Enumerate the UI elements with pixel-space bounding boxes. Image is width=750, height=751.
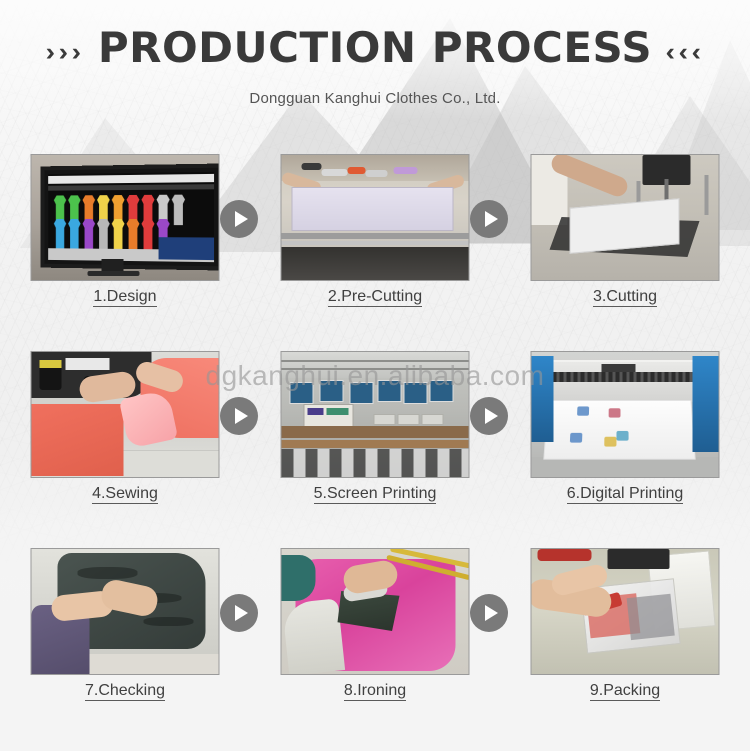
step-caption: 4.Sewing bbox=[0, 485, 250, 503]
process-step-8[interactable]: 8.Ironing bbox=[250, 534, 500, 731]
play-arrow-icon[interactable] bbox=[220, 594, 258, 632]
play-arrow-icon[interactable] bbox=[220, 397, 258, 435]
play-arrow-icon[interactable] bbox=[470, 594, 508, 632]
step-thumbnail-checking[interactable] bbox=[31, 548, 220, 675]
process-step-grid: 1.Design bbox=[0, 140, 750, 731]
process-step-5[interactable]: 5.Screen Printing bbox=[250, 337, 500, 534]
step-label: 5.Screen Printing bbox=[314, 485, 437, 504]
step-label: 6.Digital Printing bbox=[567, 485, 684, 504]
photo-ironing bbox=[282, 549, 469, 674]
banner-header: ››› PRODUCTION PROCESS ‹‹‹ Dongguan Kang… bbox=[0, 0, 750, 132]
step-label: 3.Cutting bbox=[593, 288, 657, 307]
process-step-7[interactable]: 7.Checking bbox=[0, 534, 250, 731]
step-thumbnail-ironing[interactable] bbox=[281, 548, 470, 675]
play-arrow-icon[interactable] bbox=[220, 200, 258, 238]
step-label: 2.Pre-Cutting bbox=[328, 288, 422, 307]
chevron-left-triple-icon: ‹‹‹ bbox=[666, 40, 705, 65]
step-caption: 3.Cutting bbox=[500, 288, 750, 306]
photo-cutting bbox=[532, 155, 719, 280]
step-thumbnail-pre-cutting[interactable] bbox=[281, 154, 470, 281]
process-step-6[interactable]: 6.Digital Printing bbox=[500, 337, 750, 534]
photo-pre-cutting bbox=[282, 155, 469, 280]
process-step-4[interactable]: 4.Sewing bbox=[0, 337, 250, 534]
process-step-2[interactable]: 2.Pre-Cutting bbox=[250, 140, 500, 337]
step-thumbnail-sewing[interactable] bbox=[31, 351, 220, 478]
step-caption: 8.Ironing bbox=[250, 682, 500, 700]
step-caption: 6.Digital Printing bbox=[500, 485, 750, 503]
production-process-banner: ››› PRODUCTION PROCESS ‹‹‹ Dongguan Kang… bbox=[0, 0, 750, 751]
process-step-3[interactable]: 3.Cutting bbox=[500, 140, 750, 337]
play-arrow-icon[interactable] bbox=[470, 397, 508, 435]
step-caption: 7.Checking bbox=[0, 682, 250, 700]
photo-sewing bbox=[32, 352, 219, 477]
step-thumbnail-cutting[interactable] bbox=[531, 154, 720, 281]
step-thumbnail-packing[interactable] bbox=[531, 548, 720, 675]
play-arrow-icon[interactable] bbox=[470, 200, 508, 238]
process-step-9[interactable]: 9.Packing bbox=[500, 534, 750, 731]
photo-digital-printing bbox=[532, 352, 719, 477]
step-thumbnail-design[interactable] bbox=[31, 154, 220, 281]
process-step-1[interactable]: 1.Design bbox=[0, 140, 250, 337]
step-caption: 9.Packing bbox=[500, 682, 750, 700]
step-label: 8.Ironing bbox=[344, 682, 406, 701]
step-thumbnail-digital-printing[interactable] bbox=[531, 351, 720, 478]
chevron-right-triple-icon: ››› bbox=[45, 40, 84, 65]
photo-screen-printing bbox=[282, 352, 469, 477]
step-label: 1.Design bbox=[93, 288, 156, 307]
step-caption: 5.Screen Printing bbox=[250, 485, 500, 503]
company-name: Dongguan Kanghui Clothes Co., Ltd. bbox=[0, 90, 750, 107]
photo-checking bbox=[32, 549, 219, 674]
photo-design bbox=[32, 155, 219, 280]
step-caption: 2.Pre-Cutting bbox=[250, 288, 500, 306]
page-title: PRODUCTION PROCESS bbox=[98, 27, 652, 69]
title-row: ››› PRODUCTION PROCESS ‹‹‹ bbox=[0, 27, 750, 69]
step-label: 4.Sewing bbox=[92, 485, 158, 504]
step-caption: 1.Design bbox=[0, 288, 250, 306]
step-thumbnail-screen-printing[interactable] bbox=[281, 351, 470, 478]
step-label: 9.Packing bbox=[590, 682, 660, 701]
step-label: 7.Checking bbox=[85, 682, 165, 701]
photo-packing bbox=[532, 549, 719, 674]
